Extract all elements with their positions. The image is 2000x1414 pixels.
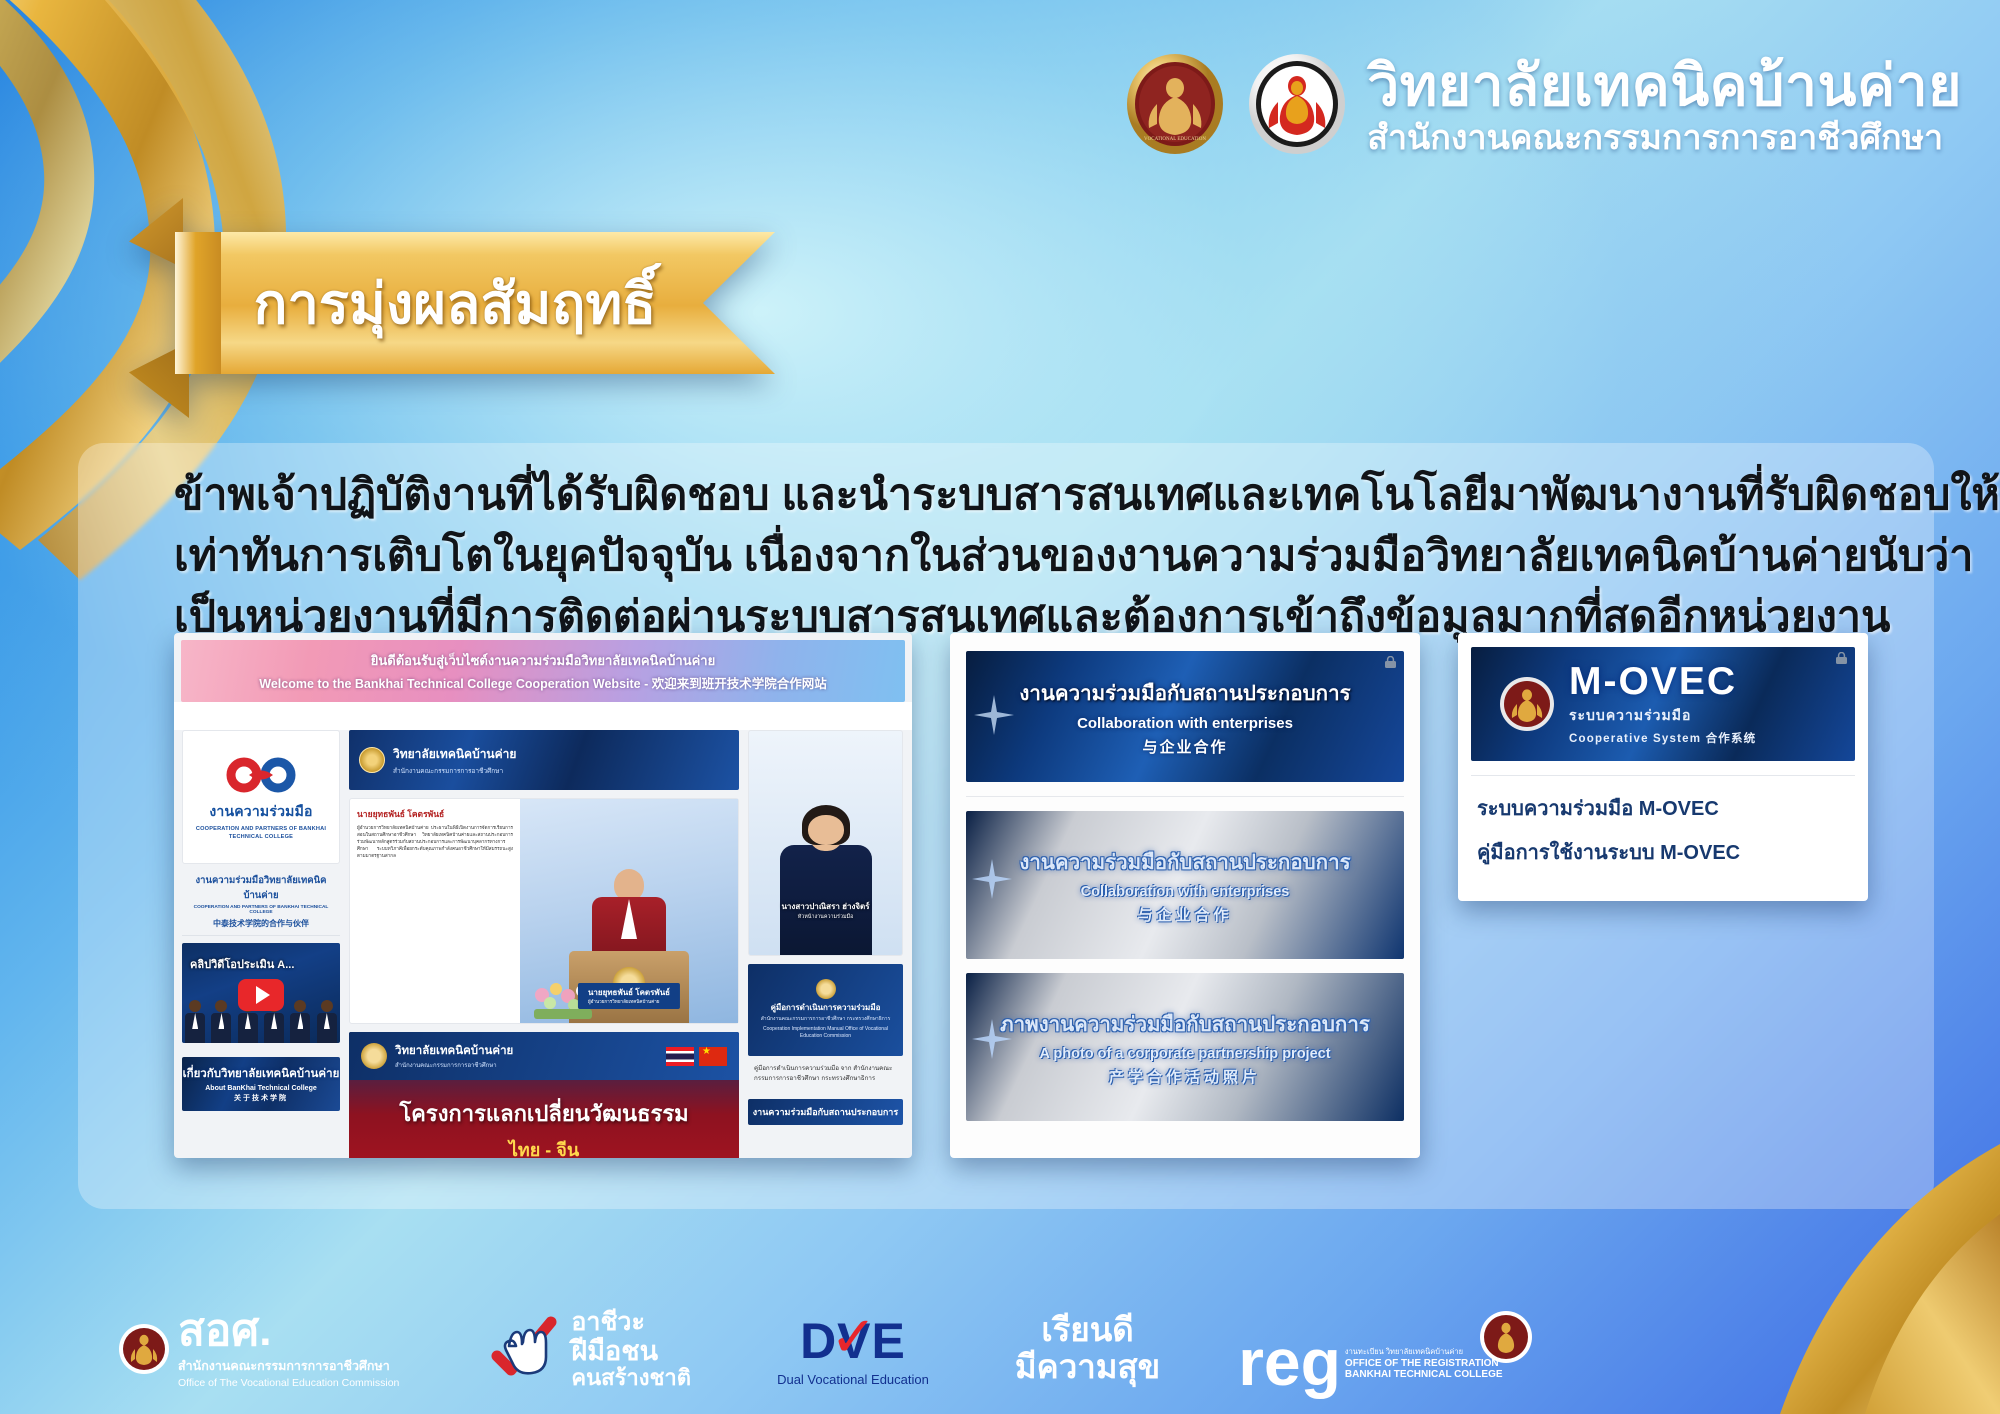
footer-achiva-l1: อาชีวะ xyxy=(571,1308,691,1336)
coop-logo-th: งานความร่วมมือ xyxy=(209,801,312,823)
footer-logo-dve: DVE ✓ Dual Vocational Education xyxy=(777,1312,929,1387)
college-seal-icon xyxy=(359,747,385,773)
registration-seal-icon xyxy=(1479,1310,1533,1364)
website-screenshot[interactable]: ยินดีต้อนรับสู่เว็บไซต์งานความร่วมมือวิท… xyxy=(174,633,912,1158)
screenshot-row: ยินดีต้อนรับสู่เว็บไซต์งานความร่วมมือวิท… xyxy=(174,633,1868,1158)
movec-screenshot[interactable]: M-OVEC ระบบความร่วมมือ Cooperative Syste… xyxy=(1458,633,1868,901)
movec-link-system[interactable]: ระบบความร่วมมือ M-OVEC xyxy=(1477,792,1849,824)
exchange-header-th: วิทยาลัยเทคนิคบ้านค่าย xyxy=(395,1042,513,1060)
coop-logo-en: COOPERATION AND PARTNERS OF BANKHAI TECH… xyxy=(183,826,339,841)
body-line-2: เท่าทันการเติบโตในยุคปัจจุบัน เนื่องจากใ… xyxy=(174,526,1854,587)
coop-head-nameplate: นางสาวปาณิสรา ฮ่างจิตร์ หัวหน้างานความร่… xyxy=(781,900,869,921)
movec-subtitle-th: ระบบความร่วมมือ xyxy=(1569,705,1756,727)
manual-seal-icon xyxy=(816,979,836,999)
banner-3-en: A photo of a corporate partnership proje… xyxy=(1039,1046,1330,1062)
banners-screenshot[interactable]: งานความร่วมมือกับสถานประกอบการ Collabora… xyxy=(950,633,1420,1158)
footer-sosor-main: สอศ. xyxy=(178,1309,399,1353)
red-check-icon: ✓ xyxy=(830,1304,878,1370)
manual-caption: คู่มือการดำเนินการความร่วมมือ จาก สำนักง… xyxy=(748,1056,903,1092)
footer-reg-en2: BANKHAI TECHNICAL COLLEGE xyxy=(1345,1369,1503,1380)
movec-link-list: ระบบความร่วมมือ M-OVEC คู่มือการใช้งานระ… xyxy=(1471,776,1855,868)
sparkle-icon xyxy=(972,693,1016,737)
director-name: นายยุทธพันธ์ โคตรพันธ์ xyxy=(357,807,513,821)
manual-title-th: คู่มือการดำเนินการความร่วมมือ xyxy=(771,1001,881,1014)
website-hero-banner: ยินดีต้อนรับสู่เว็บไซต์งานความร่วมมือวิท… xyxy=(181,640,905,702)
banner-2-th: งานความร่วมมือกับสถานประกอบการ xyxy=(1019,846,1350,879)
banner-3-th: ภาพงานความร่วมมือกับสถานประกอบการ xyxy=(1000,1008,1370,1041)
director-nameplate: นายยุทธพันธ์ โคตรพันธ์ ผู้อำนวยการวิทยาล… xyxy=(578,983,680,1009)
cooperation-handshake-icon xyxy=(219,752,303,798)
coop-caption-cn: 中泰技术学院的合作与伙伴 xyxy=(184,918,338,929)
college-name-block: วิทยาลัยเทคนิคบ้านค่าย สำนักงานคณะกรรมกา… xyxy=(1367,58,1962,155)
movec-banner[interactable]: M-OVEC ระบบความร่วมมือ Cooperative Syste… xyxy=(1471,647,1855,761)
hand-check-icon xyxy=(487,1312,561,1386)
banner-1-en: Collaboration with enterprises xyxy=(1077,715,1293,732)
college-sub-th: สำนักงานคณะกรรมการการอาชีวศึกษา xyxy=(1367,121,1962,155)
footer-dve-mark: DVE ✓ xyxy=(800,1312,906,1370)
website-left-column: งานความร่วมมือ COOPERATION AND PARTNERS … xyxy=(182,730,340,1158)
coop-caption-block: งานความร่วมมือวิทยาลัยเทคนิคบ้านค่าย COO… xyxy=(182,864,340,936)
news-banner-th: วิทยาลัยเทคนิคบ้านค่าย xyxy=(393,745,516,764)
banner-2-en: Collaboration with enterprises xyxy=(1081,884,1290,900)
ribbon-tail-top xyxy=(129,198,183,268)
banner-1-th: งานความร่วมมือกับสถานประกอบการ xyxy=(1019,677,1350,710)
header: VOCATIONAL EDUCATION xyxy=(1123,52,1962,161)
sparkle-icon xyxy=(970,857,1014,901)
manual-banner[interactable]: คู่มือการดำเนินการความร่วมมือ สำนักงานคณ… xyxy=(748,964,903,1056)
vocational-education-commission-seal-icon: VOCATIONAL EDUCATION xyxy=(1123,52,1227,161)
footer-dve-sub: Dual Vocational Education xyxy=(777,1372,929,1387)
about-banner-en: About BanKhai Technical College xyxy=(205,1085,317,1092)
ribbon-gloss xyxy=(175,232,221,374)
footer-logo-strip: สอศ. สำนักงานคณะกรรมการการอาชีวศึกษา Off… xyxy=(0,1284,2000,1414)
video-thumbnail[interactable]: คลิปวิดีโอประเมิน A... xyxy=(182,943,340,1043)
about-college-banner[interactable]: เกี่ยวกับวิทยาลัยเทคนิคบ้านค่าย About Ba… xyxy=(182,1057,340,1111)
svg-text:VOCATIONAL EDUCATION: VOCATIONAL EDUCATION xyxy=(1144,137,1206,142)
video-title: คลิปวิดีโอประเมิน A... xyxy=(190,955,332,973)
coop-head-name: นางสาวปาณิสรา ฮ่างจิตร์ xyxy=(781,902,869,911)
footer-logo-registration: reg งานทะเบียน วิทยาลัยเทคนิคบ้านค่าย OF… xyxy=(1238,1310,1532,1388)
news-banner-sub: สำนักงานคณะกรรมการการอาชีวศึกษา xyxy=(393,766,516,776)
footer-rian-l2: มีความสุข xyxy=(1015,1349,1160,1386)
director-nameplate-name: นายยุทธพันธ์ โคตรพันธ์ xyxy=(588,988,670,997)
lock-icon xyxy=(1384,656,1397,669)
website-navbar xyxy=(174,702,912,730)
website-right-column: นางสาวปาณิสรา ฮ่างจิตร์ หัวหน้างานความร่… xyxy=(748,730,903,1158)
play-icon[interactable] xyxy=(238,979,284,1011)
footer-sosor-th: สำนักงานคณะกรรมการการอาชีวศึกษา xyxy=(178,1356,399,1376)
cultural-exchange-card[interactable]: วิทยาลัยเทคนิคบ้านค่าย สำนักงานคณะกรรมกา… xyxy=(349,1032,739,1158)
coop-caption-th: งานความร่วมมือวิทยาลัยเทคนิคบ้านค่าย xyxy=(184,873,338,903)
banner-collaboration-dark[interactable]: งานความร่วมมือกับสถานประกอบการ Collabora… xyxy=(966,651,1404,782)
banner-3-cn: 产学合作活动照片 xyxy=(1109,1066,1261,1087)
section-title-ribbon: การมุ่งผลสัมฤทธิ์ xyxy=(175,232,775,374)
director-text-block: นายยุทธพันธ์ โคตรพันธ์ ผู้อำนวยการวิทยาล… xyxy=(350,799,520,1023)
exchange-title-th: โครงการแลกเปลี่ยนวัฒนธรรม xyxy=(349,1096,739,1131)
content-panel: ข้าพเจ้าปฏิบัติงานที่ได้รับผิดชอบ และนำร… xyxy=(78,443,1934,1209)
exchange-seal-icon xyxy=(361,1043,387,1069)
website-center-column: วิทยาลัยเทคนิคบ้านค่าย สำนักงานคณะกรรมกา… xyxy=(349,730,739,1158)
thailand-flag-icon xyxy=(666,1047,694,1066)
lock-icon xyxy=(1835,652,1848,665)
banner-divider xyxy=(966,796,1404,797)
china-flag-icon xyxy=(699,1047,727,1066)
exchange-header: วิทยาลัยเทคนิคบ้านค่าย สำนักงานคณะกรรมกา… xyxy=(349,1032,739,1080)
footer-sosor-en: Office of The Vocational Education Commi… xyxy=(178,1377,399,1389)
coop-enterprise-banner[interactable]: งานความร่วมมือกับสถานประกอบการ xyxy=(748,1099,903,1125)
footer-logo-achiva: อาชีวะ ฝีมือชน คนสร้างชาติ xyxy=(487,1308,691,1391)
coop-enterprise-banner-th: งานความร่วมมือกับสถานประกอบการ xyxy=(753,1105,898,1119)
bankhai-technical-college-seal-icon xyxy=(1245,52,1349,161)
banner-collaboration-light[interactable]: งานความร่วมมือกับสถานประกอบการ Collabora… xyxy=(966,811,1404,959)
website-hero-en: Welcome to the Bankhai Technical College… xyxy=(259,673,826,692)
exchange-title-sub: ไทย - จีน xyxy=(349,1135,739,1158)
college-name-th: วิทยาลัยเทคนิคบ้านค่าย xyxy=(1367,58,1962,115)
director-photo: นายยุทธพันธ์ โคตรพันธ์ ผู้อำนวยการวิทยาล… xyxy=(520,799,738,1023)
exchange-header-sub: สำนักงานคณะกรรมการการอาชีวศึกษา xyxy=(395,1060,513,1070)
body-paragraph: ข้าพเจ้าปฏิบัติงานที่ได้รับผิดชอบ และนำร… xyxy=(174,465,1854,648)
movec-text-block: M-OVEC ระบบความร่วมมือ Cooperative Syste… xyxy=(1569,662,1756,746)
movec-seal-icon xyxy=(1499,676,1555,732)
banner-1-cn: 与企业合作 xyxy=(1142,736,1227,757)
movec-subtitle-en: Cooperative System 合作系统 xyxy=(1569,730,1756,746)
banner-2-cn: 与企业合作 xyxy=(1137,904,1232,925)
sosor-seal-icon xyxy=(118,1323,170,1375)
page-title: การมุ่งผลสัมฤทธิ์ xyxy=(254,259,657,348)
manual-sub-en: Cooperation Implementation Manual Office… xyxy=(752,1026,899,1041)
about-banner-th: เกี่ยวกับวิทยาลัยเทคนิคบ้านค่าย xyxy=(183,1065,340,1083)
director-nameplate-role: ผู้อำนวยการวิทยาลัยเทคนิคบ้านค่าย xyxy=(588,999,670,1006)
footer-reg-mark: reg xyxy=(1238,1337,1341,1388)
footer-achiva-l2: ฝีมือชน xyxy=(571,1336,691,1366)
website-hero-th: ยินดีต้อนรับสู่เว็บไซต์งานความร่วมมือวิท… xyxy=(371,650,715,671)
website-columns: งานความร่วมมือ COOPERATION AND PARTNERS … xyxy=(174,730,912,1158)
director-paragraph: ผู้อำนวยการวิทยาลัยเทคนิคบ้านค่าย ประธาน… xyxy=(357,825,513,859)
coop-head-card[interactable]: นางสาวปาณิสรา ฮ่างจิตร์ หัวหน้างานความร่… xyxy=(748,730,903,956)
about-banner-cn: 关于技术学院 xyxy=(234,1093,288,1103)
college-news-banner: วิทยาลัยเทคนิคบ้านค่าย สำนักงานคณะกรรมกา… xyxy=(349,730,739,790)
exchange-title-block: โครงการแลกเปลี่ยนวัฒนธรรม ไทย - จีน วิทย… xyxy=(349,1096,739,1158)
movec-title: M-OVEC xyxy=(1569,662,1756,701)
footer-logo-sosor: สอศ. สำนักงานคณะกรรมการการอาชีวศึกษา Off… xyxy=(118,1309,399,1389)
slide-canvas: VOCATIONAL EDUCATION xyxy=(0,0,2000,1414)
movec-link-manual[interactable]: คู่มือการใช้งานระบบ M-OVEC xyxy=(1477,836,1849,868)
footer-achiva-l3: คนสร้างชาติ xyxy=(571,1366,691,1391)
coop-caption-en: COOPERATION AND PARTNERS OF BANKHAI TECH… xyxy=(184,905,338,915)
body-line-1: ข้าพเจ้าปฏิบัติงานที่ได้รับผิดชอบ และนำร… xyxy=(174,465,1854,526)
footer-rian-l1: เรียนดี xyxy=(1041,1312,1133,1349)
footer-logo-rian-dee: เรียนดี มีความสุข xyxy=(1015,1312,1160,1386)
manual-sub-th: สำนักงานคณะกรรมการการอาชีวศึกษา กระทรวงศ… xyxy=(761,1016,891,1024)
banner-photo-project[interactable]: ภาพงานความร่วมมือกับสถานประกอบการ A phot… xyxy=(966,973,1404,1121)
director-news-card[interactable]: นายยุทธพันธ์ โคตรพันธ์ ผู้อำนวยการวิทยาล… xyxy=(349,798,739,1024)
coop-logo-card: งานความร่วมมือ COOPERATION AND PARTNERS … xyxy=(182,730,340,864)
coop-head-role: หัวหน้างานความร่วมมือ xyxy=(781,913,869,921)
flags-group xyxy=(666,1047,727,1066)
coop-head-figure xyxy=(780,811,872,955)
